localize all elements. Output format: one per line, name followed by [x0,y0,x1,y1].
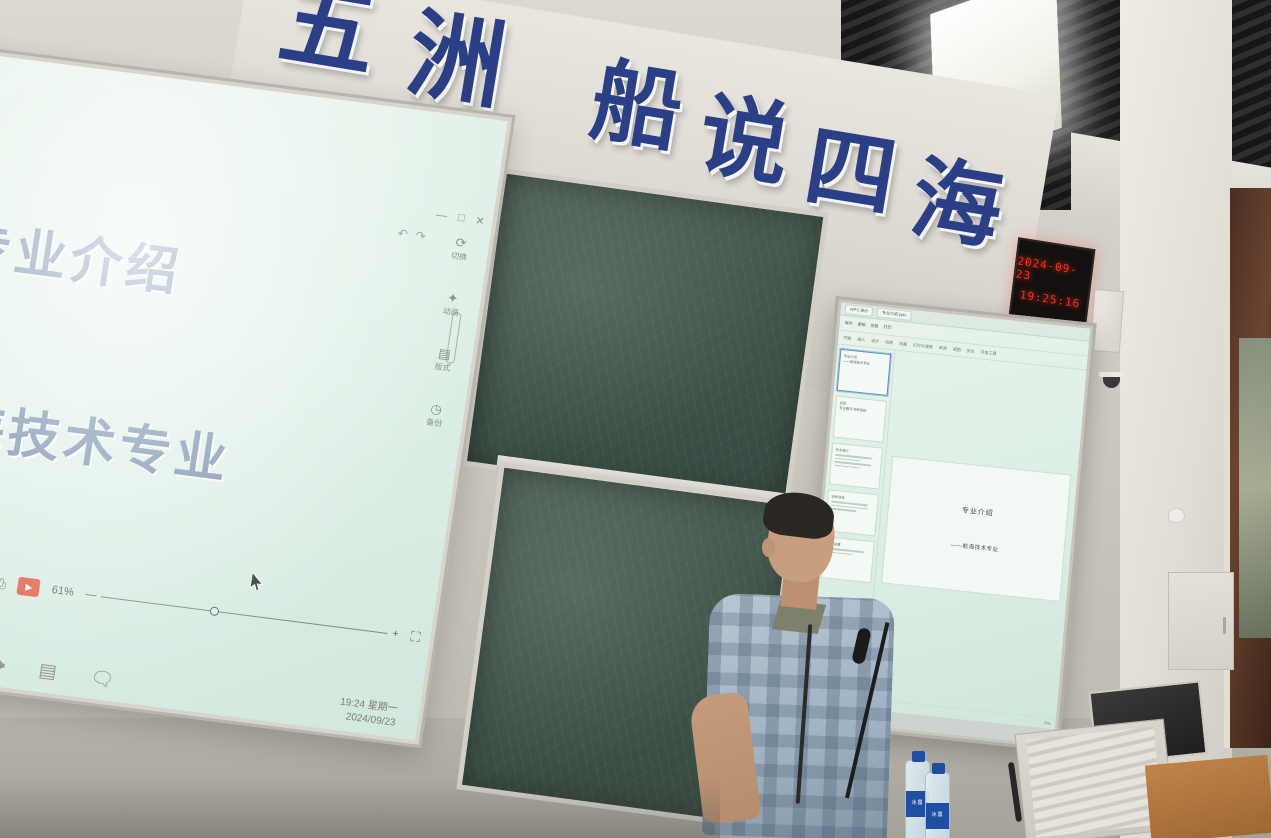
close-button[interactable]: ✕ [474,214,485,228]
zoom-slider[interactable]: — + [85,588,400,640]
redo-icon[interactable]: ↷ [415,228,427,243]
thumbnail-slide-1[interactable]: 专业介绍 ——航海技术专业 [837,349,891,396]
presentation-status-toolbar: ☰ ▯ ⊞ ◫ ⎙ ▶ 61% — + ⛶ [0,562,422,646]
projected-slide-title: 专业介绍 [0,203,188,306]
classroom-scene: 五 洲 船 说 四 海 2024-09-23 19:25:16 幻灯片放映 审阅… [0,0,1271,838]
banner-char-5: 海 [905,154,1008,257]
thumbnail-slide-3[interactable]: 专业简介 [829,442,883,489]
podium-wood-top [1145,755,1271,838]
water-bottle-2: 冰露 [925,772,950,838]
undo-redo-group: ↶ ↷ [397,226,427,243]
led-clock-time: 19:25:16 [1019,288,1081,310]
banner-char-2: 船 [585,56,688,159]
smoke-detector [1168,508,1185,523]
backup-icon: ◷ [430,402,443,416]
projection-surface: 幻灯片放映 审阅 视图 开发工具 查找 — □ ✕ ↶ ↷ [0,52,508,741]
projected-slide-subtitle: 航海技术专业 [0,376,237,493]
rail-label-transition: 切换 [450,250,467,263]
comment-icon[interactable]: 🗨 [89,665,116,692]
wall-access-panel[interactable] [1168,572,1234,670]
ribbon-tab-design[interactable]: 设计 [871,337,879,344]
animation-icon: ✦ [446,291,459,305]
quick-print[interactable]: 打印 [883,324,891,331]
ribbon-tab-security[interactable]: 安全 [966,347,974,354]
volume-icon[interactable]: 🕪 [0,654,7,677]
zoom-out-button[interactable]: — [85,588,98,601]
keyboard-icon[interactable]: ▤ [37,659,58,684]
zoom-value-label: 61% [51,584,75,599]
restore-button[interactable]: □ [457,212,466,226]
rail-item-animation[interactable]: ✦ 动画 [442,291,462,319]
presenter-ear [762,538,775,557]
quick-undo[interactable]: 撤销 [857,321,865,328]
banner-char-1: 洲 [401,6,511,116]
rail-label-animation: 动画 [442,306,459,319]
fit-to-window-icon[interactable]: ⛶ [409,628,421,646]
ribbon-tab-transition[interactable]: 切换 [885,339,893,346]
bottle-label-2: 冰露 [926,803,949,818]
layout-icon: ▤ [438,346,452,360]
ribbon-tab-animation[interactable]: 动画 [899,340,907,347]
ribbon-tab-insert[interactable]: 插入 [857,336,865,343]
ribbon-tab-devtools[interactable]: 开发工具 [980,349,996,357]
door-glass-panel [1239,338,1271,638]
rail-item-backup[interactable]: ◷ 备份 [425,401,445,429]
zoom-in-button[interactable]: + [391,628,399,641]
podium-slats [1026,727,1164,838]
ribbon-tab-view[interactable]: 视图 [953,346,961,353]
mouse-cursor-icon [249,572,266,594]
start-slideshow-button[interactable]: ▶ [17,577,41,598]
monitor-slide-title: 专业介绍 [961,505,994,518]
monitor-slide-subtitle: ——航海技术专业 [950,540,998,553]
monitor-tab-app[interactable]: WPS 演示 [844,304,873,317]
ribbon-tab-review[interactable]: 审阅 [939,345,947,352]
undo-icon[interactable]: ↶ [397,226,409,241]
rail-label-layout: 版式 [434,361,451,374]
rail-item-layout[interactable]: ▤ 版式 [434,346,454,374]
dome-camera-icon [1099,372,1125,386]
floor-shadow [0,778,720,838]
rail-item-transition[interactable]: ⟳ 切换 [450,235,470,263]
thumbnail-slide-2[interactable]: 目录 专业概况 培养目标 [833,396,887,443]
minimize-button[interactable]: — [435,209,448,223]
window-controls: — □ ✕ [435,209,485,228]
led-clock-date: 2024-09-23 [1015,254,1091,291]
ribbon-tab-home[interactable]: 开始 [843,335,851,342]
banner-char-3: 说 [692,90,795,193]
rail-label-backup: 备份 [425,416,442,429]
panel-handle[interactable] [1223,617,1226,634]
notes-view-icon[interactable]: ⎙ [0,574,7,592]
quick-redo[interactable]: 恢复 [870,323,878,330]
quick-save[interactable]: 保存 [844,320,852,327]
os-clock: 19:24 星期一 2024/09/23 [337,696,398,730]
transition-icon: ⟳ [455,236,468,250]
zoom-slider-knob[interactable] [209,606,219,616]
zoom-slider-track[interactable] [101,596,387,634]
monitor-zoom-value[interactable]: 75% [1043,721,1050,726]
wall-speaker [1090,289,1124,353]
ribbon-tab-slideshow[interactable]: 幻灯片放映 [913,342,933,350]
banner-char-0: 五 [273,0,383,85]
